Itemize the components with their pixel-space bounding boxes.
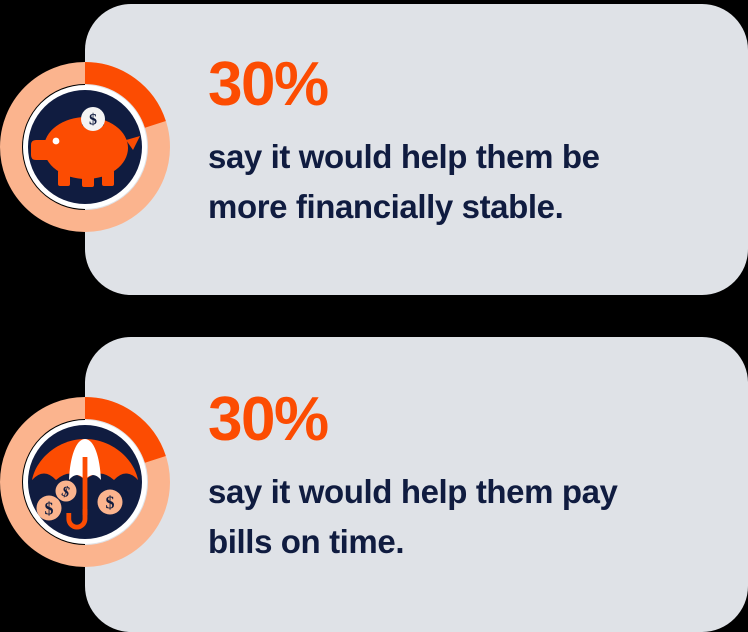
stat-caption: say it would help them be more financial… xyxy=(208,132,678,231)
infographic-stage: $ 30% say it would help them be more fin… xyxy=(0,0,748,632)
percent-value: 30% xyxy=(208,389,708,451)
stat-card-financially-stable: $ 30% say it would help them be more fin… xyxy=(85,4,748,295)
donut-chart-svg: $ $ $ xyxy=(0,397,170,567)
donut-chart-pay-bills-on-time: $ $ $ xyxy=(0,397,170,567)
percent-value: 30% xyxy=(208,54,708,116)
stat-caption: say it would help them pay bills on time… xyxy=(208,467,678,566)
coin-icon: $ xyxy=(56,481,77,502)
coin-dollar-symbol: $ xyxy=(89,112,97,129)
coin-dollar-symbol: $ xyxy=(106,493,115,513)
donut-chart-financially-stable: $ xyxy=(0,62,170,232)
donut-chart-svg: $ xyxy=(0,62,170,232)
coin-icon: $ xyxy=(37,496,62,521)
stat-text-block-pay-bills-on-time: 30% say it would help them pay bills on … xyxy=(208,389,708,566)
stat-text-block-financially-stable: 30% say it would help them be more finan… xyxy=(208,54,708,231)
coin-dollar-symbol: $ xyxy=(45,499,54,519)
stat-card-pay-bills-on-time: $ $ $ 30% say it would help them pay bil… xyxy=(85,337,748,632)
coin-icon: $ xyxy=(98,490,123,515)
